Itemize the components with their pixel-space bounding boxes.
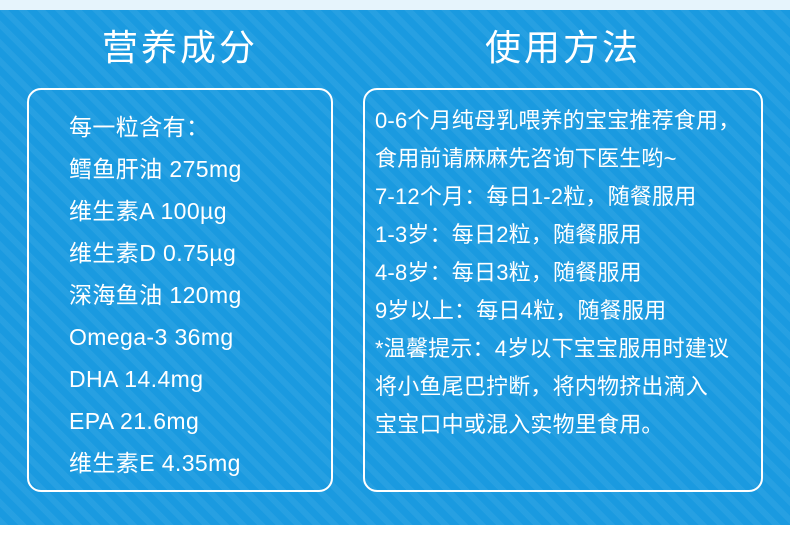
list-item: 宝宝口中或混入实物里食用。 bbox=[375, 406, 755, 444]
list-item: 4-8岁：每日3粒，随餐服用 bbox=[375, 254, 755, 292]
list-item: 维生素E 4.35mg bbox=[69, 442, 321, 484]
list-item: 7-12个月：每日1-2粒，随餐服用 bbox=[375, 178, 755, 216]
section-title-nutrition: 营养成分 bbox=[27, 28, 333, 68]
list-item: 0-6个月纯母乳喂养的宝宝推荐食用， bbox=[375, 102, 755, 140]
list-item: 1-3岁：每日2粒，随餐服用 bbox=[375, 216, 755, 254]
list-item: 将小鱼尾巴拧断，将内物挤出滴入 bbox=[375, 368, 755, 406]
list-item: *温馨提示：4岁以下宝宝服用时建议 bbox=[375, 330, 755, 368]
product-detail-panel: 营养成分 每一粒含有： 鳕鱼肝油 275mg 维生素A 100µg 维生素D 0… bbox=[0, 0, 790, 542]
bottom-white-strip bbox=[0, 525, 790, 542]
nutrition-list: 每一粒含有： 鳕鱼肝油 275mg 维生素A 100µg 维生素D 0.75µg… bbox=[69, 106, 321, 484]
list-item: 食用前请麻麻先咨询下医生哟~ bbox=[375, 140, 755, 178]
nutrition-card: 每一粒含有： 鳕鱼肝油 275mg 维生素A 100µg 维生素D 0.75µg… bbox=[27, 88, 333, 492]
list-item: 每一粒含有： bbox=[69, 106, 321, 148]
list-item: EPA 21.6mg bbox=[69, 400, 321, 442]
usage-list: 0-6个月纯母乳喂养的宝宝推荐食用， 食用前请麻麻先咨询下医生哟~ 7-12个月… bbox=[375, 102, 755, 444]
list-item: 深海鱼油 120mg bbox=[69, 274, 321, 316]
usage-card: 0-6个月纯母乳喂养的宝宝推荐食用， 食用前请麻麻先咨询下医生哟~ 7-12个月… bbox=[363, 88, 763, 492]
list-item: 维生素D 0.75µg bbox=[69, 232, 321, 274]
section-title-usage: 使用方法 bbox=[363, 28, 763, 68]
top-accent-strip bbox=[0, 0, 790, 10]
list-item: Omega-3 36mg bbox=[69, 316, 321, 358]
list-item: 9岁以上：每日4粒，随餐服用 bbox=[375, 292, 755, 330]
list-item: DHA 14.4mg bbox=[69, 358, 321, 400]
list-item: 维生素A 100µg bbox=[69, 190, 321, 232]
list-item: 鳕鱼肝油 275mg bbox=[69, 148, 321, 190]
